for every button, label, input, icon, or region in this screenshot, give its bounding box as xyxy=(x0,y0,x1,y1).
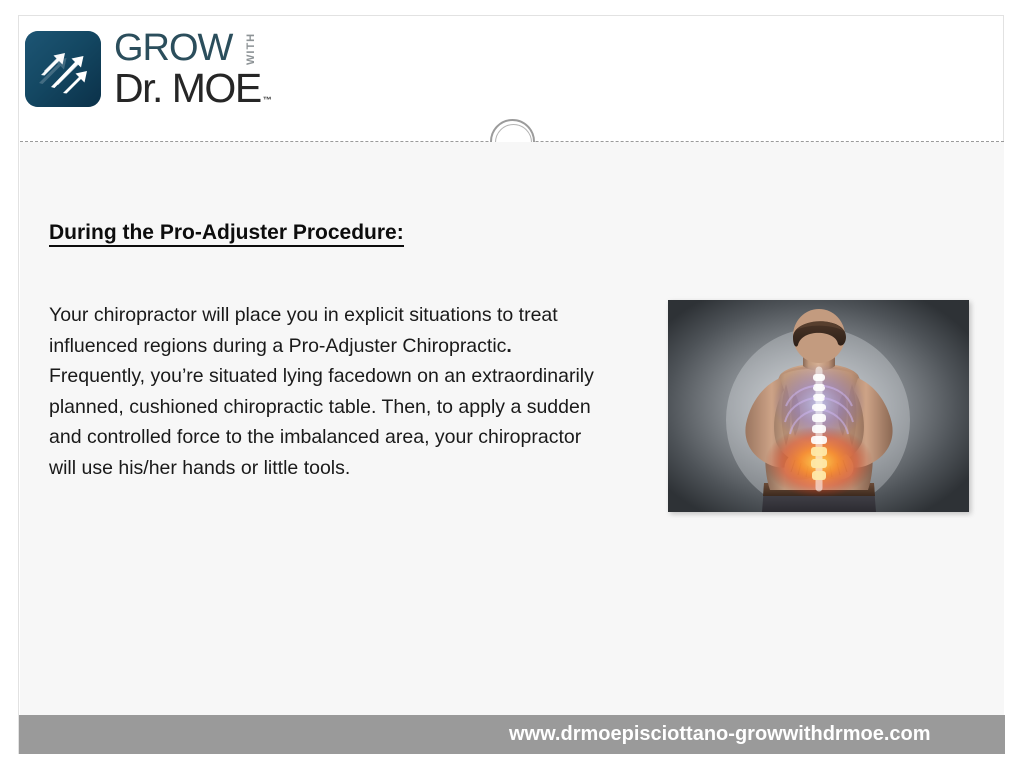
grow-arrows-logo-icon xyxy=(25,31,101,107)
body-paragraph: Your chiropractor will place you in expl… xyxy=(49,300,609,484)
slide-body: During the Pro-Adjuster Procedure: Your … xyxy=(20,142,1004,715)
paragraph-part-one: Your chiropractor will place you in expl… xyxy=(49,304,558,357)
footer-website-url[interactable]: www.drmoepisciottano-growwithdrmoe.com xyxy=(509,723,931,746)
trademark-symbol: ™ xyxy=(263,95,272,105)
paragraph-part-two: Frequently, you’re situated lying facedo… xyxy=(49,365,594,479)
brand-logo[interactable]: GROW WITH Dr. MOE ™ xyxy=(25,31,272,109)
back-pain-spine-photo xyxy=(668,300,969,512)
page-title-text: During the Pro-Adjuster Procedure: xyxy=(49,221,404,247)
page-title: During the Pro-Adjuster Procedure: xyxy=(49,221,404,245)
paragraph-bold-period: . xyxy=(506,335,511,357)
slide-frame: GROW WITH Dr. MOE ™ During the Pro-Adjus… xyxy=(18,15,1004,754)
brand-wordmark: GROW WITH Dr. MOE ™ xyxy=(114,29,272,109)
logo-name-text: Dr. MOE xyxy=(114,68,261,109)
footer-bar: www.drmoepisciottano-growwithdrmoe.com xyxy=(19,715,1005,754)
logo-with-text: WITH xyxy=(245,33,257,65)
logo-grow-text: GROW xyxy=(114,29,232,67)
slide: GROW WITH Dr. MOE ™ During the Pro-Adjus… xyxy=(0,0,1024,768)
